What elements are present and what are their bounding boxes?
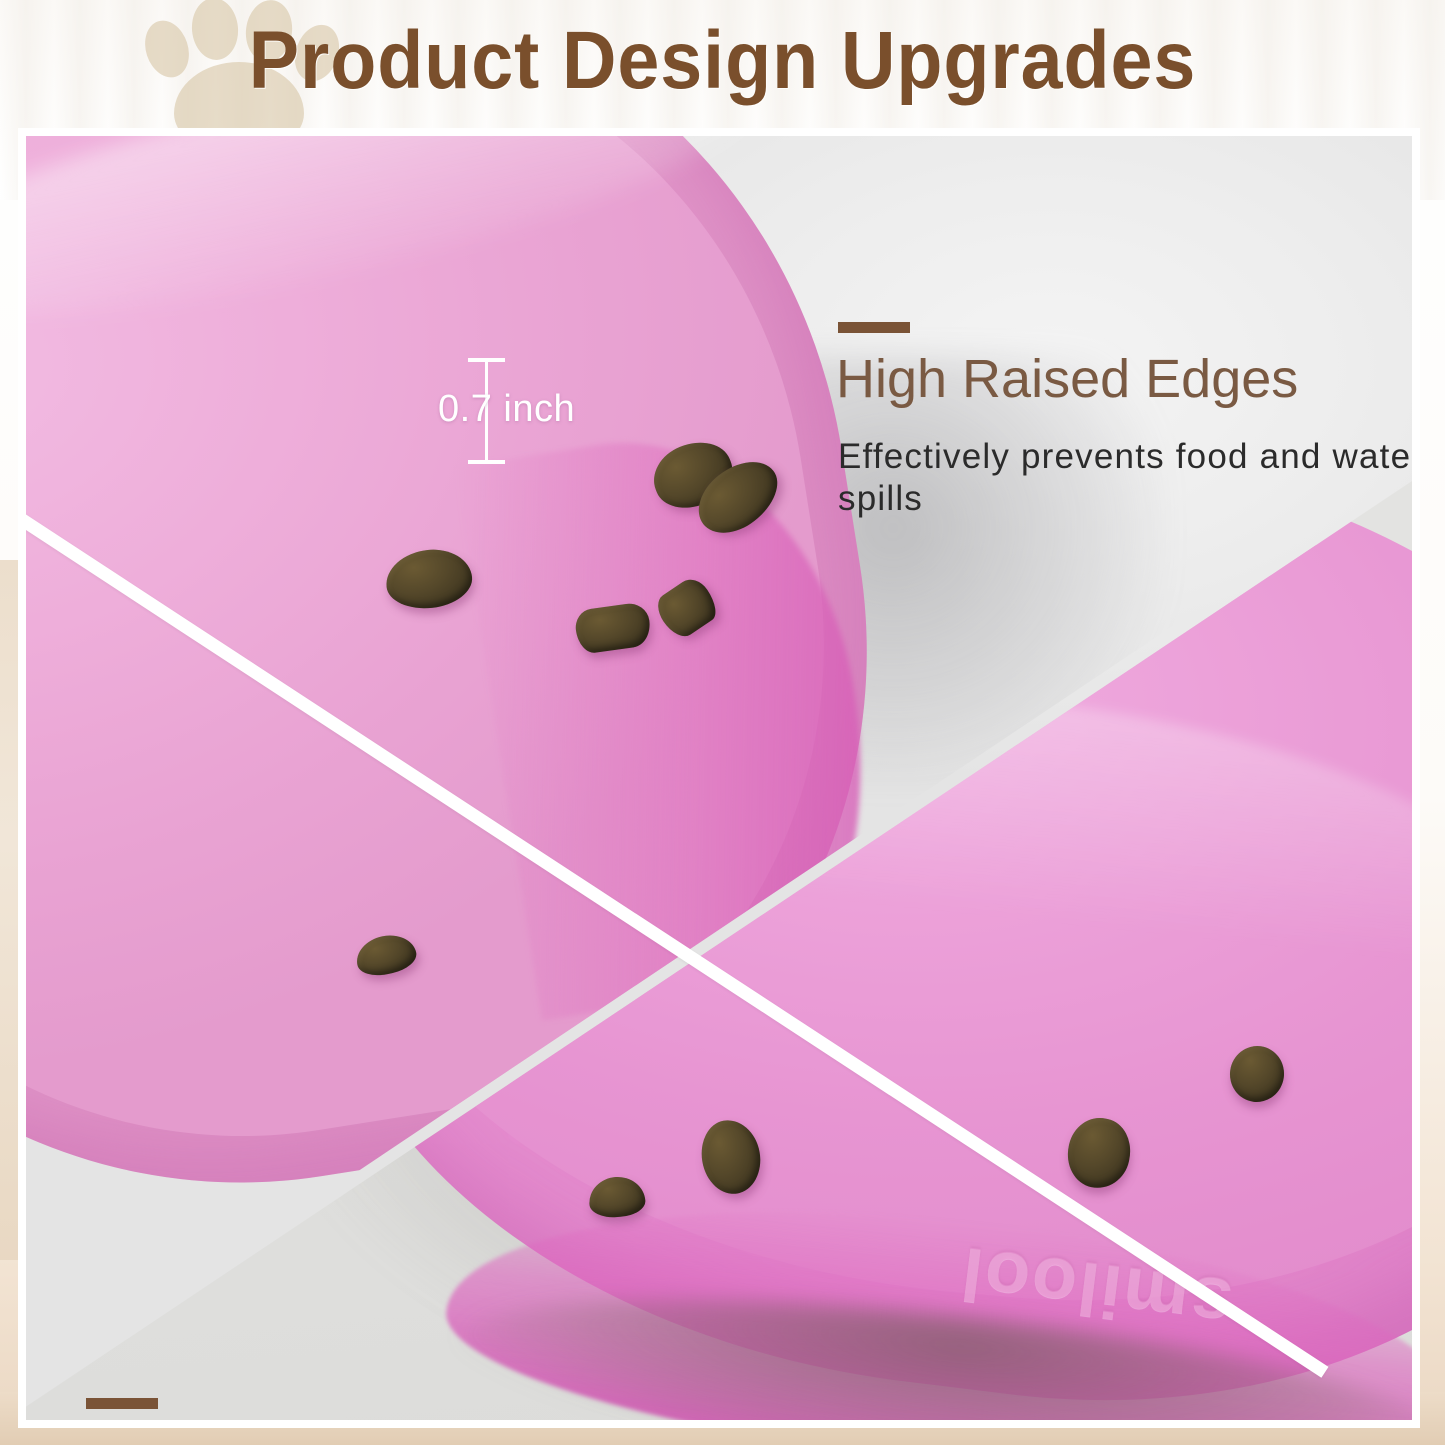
accent-bar-top <box>838 322 910 333</box>
measurement-cap-top <box>468 358 505 362</box>
accent-bar-bottom <box>86 1398 158 1409</box>
background-wall-left <box>0 560 26 1260</box>
feature-heading-high-raised-edges: High Raised Edges <box>836 348 1298 410</box>
product-photo-panel: 0.7 inch smilool High Raised Edges Effec… <box>26 136 1412 1420</box>
feature-subtext-high-raised-edges: Effectively prevents food and water spil… <box>838 436 1412 520</box>
measurement-cap-bottom <box>468 460 505 464</box>
measurement-label: 0.7 inch <box>438 388 575 431</box>
product-infographic: Product Design Upgrades 0.7 inch <box>0 0 1445 1445</box>
page-title: Product Design Upgrades <box>58 14 1387 108</box>
